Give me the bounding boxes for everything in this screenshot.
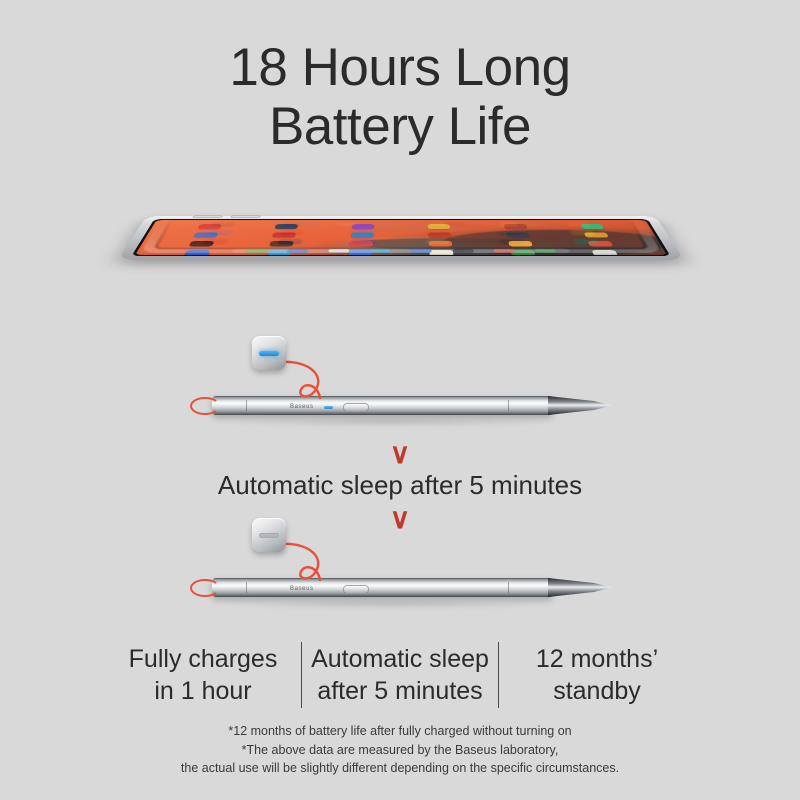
app-icon-4[interactable] [426, 239, 450, 244]
stylus-led-icon [324, 406, 333, 409]
stylus-brand-label: Baseus [290, 404, 314, 410]
feature-auto-sleep-line2: after 5 minutes [311, 675, 489, 708]
dock-icon-7[interactable] [481, 222, 501, 225]
app-icon-12[interactable] [570, 230, 595, 235]
cap-led-indicator-on [259, 351, 279, 356]
dock-icon-2[interactable] [301, 222, 321, 225]
stylus-side-button[interactable] [343, 403, 369, 412]
chevron-down-icon-1: ∨ [0, 440, 800, 468]
dock-icon-4[interactable] [373, 222, 393, 225]
feature-columns: Fully charges in 1 hour Automatic sleep … [0, 638, 800, 712]
dock-icon-1[interactable] [265, 222, 286, 225]
stylus-side-button-2[interactable] [343, 585, 369, 594]
feature-auto-sleep-line1: Automatic sleep [311, 643, 489, 676]
reflection-dock [253, 222, 550, 226]
chevron-down-icon-2: ∨ [0, 505, 800, 533]
dock-icon-3[interactable] [337, 222, 357, 225]
app-icon-9[interactable] [353, 230, 376, 235]
app-icon-2[interactable] [277, 239, 302, 244]
app-icon-7[interactable] [207, 230, 232, 235]
footnote-line-3: the actual use will be slightly differen… [0, 759, 800, 778]
dock-icon-5[interactable] [409, 222, 429, 225]
dock-icon-6[interactable] [445, 222, 465, 225]
app-icon-8[interactable] [280, 230, 304, 235]
page-title: 18 Hours Long Battery Life [0, 38, 800, 157]
feature-standby-line1: 12 months’ [536, 643, 658, 676]
cap-led-indicator-off [259, 533, 279, 538]
stylus-brand-label-2: Baseus [290, 586, 314, 592]
feature-standby-line2: standby [536, 675, 658, 708]
headline-line-1: 18 Hours Long [229, 38, 570, 97]
app-icon-6[interactable] [573, 239, 599, 244]
feature-auto-sleep: Automatic sleep after 5 minutes [302, 638, 498, 712]
reflection-frame [140, 216, 662, 253]
footnote-line-2: *The above data are measured by the Base… [0, 741, 800, 760]
stylus-lanyard-loop-2 [190, 579, 220, 597]
reflection-screen [153, 219, 649, 249]
stylus-awake: Baseus [190, 392, 610, 418]
footnote: *12 months of battery life after fully c… [0, 722, 800, 778]
reflection-wallpaper [157, 221, 645, 248]
stylus-body: Baseus [212, 396, 552, 415]
stylus-body-2: Baseus [212, 578, 552, 597]
app-icon-1[interactable] [203, 239, 229, 244]
dock-icon-8[interactable] [517, 222, 538, 225]
feature-charge-time: Fully charges in 1 hour [105, 638, 301, 712]
stylus-cap-asleep [252, 518, 286, 552]
stylus-cap-awake [252, 336, 286, 370]
app-icon-11[interactable] [498, 230, 522, 235]
footnote-line-1: *12 months of battery life after fully c… [0, 722, 800, 741]
caption-sleep-1: Automatic sleep after 5 minutes [0, 470, 800, 501]
feature-charge-time-line1: Fully charges [129, 643, 278, 676]
stylus-asleep: Baseus [190, 574, 610, 600]
stylus-tip [548, 396, 612, 415]
tablet-stage [0, 148, 800, 358]
stylus-lanyard-loop [190, 397, 220, 415]
tablet-reflection [140, 216, 662, 253]
stylus-shadow [224, 418, 554, 426]
stylus-tip-2 [548, 578, 612, 597]
app-icon-3[interactable] [352, 239, 376, 244]
feature-charge-time-line2: in 1 hour [129, 675, 278, 708]
app-icon-5[interactable] [500, 239, 525, 244]
app-icon-10[interactable] [426, 230, 449, 235]
app-icon-13[interactable] [211, 222, 236, 227]
stylus-shadow-2 [224, 600, 554, 608]
app-icon-18[interactable] [566, 222, 591, 227]
feature-standby: 12 months’ standby [499, 638, 695, 712]
